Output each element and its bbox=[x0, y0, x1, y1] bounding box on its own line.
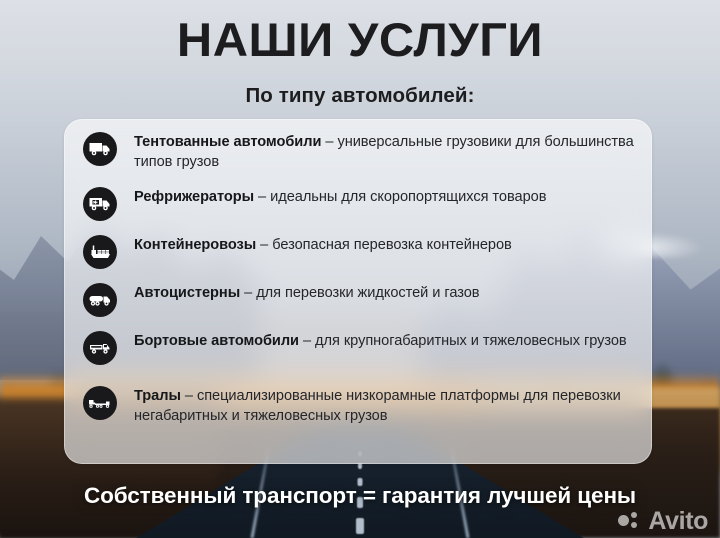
service-desc: идеальны для скоропортящихся товаров bbox=[270, 189, 546, 205]
service-text: Контейнеровозы – безопасная перевозка ко… bbox=[134, 231, 512, 256]
list-item: Тентованные автомобили – универсальные г… bbox=[64, 128, 652, 183]
service-dash: – bbox=[240, 285, 256, 301]
service-desc: безопасная перевозка контейнеров bbox=[272, 237, 512, 253]
refrigerated-truck-icon bbox=[83, 187, 117, 221]
list-item: Автоцистерны – для перевозки жидкостей и… bbox=[64, 279, 652, 327]
service-desc: для перевозки жидкостей и газов bbox=[256, 285, 479, 301]
service-desc: специализированные низкорамные платформы… bbox=[134, 388, 621, 424]
flatbed-truck-icon bbox=[83, 331, 117, 365]
service-text: Рефрижераторы – идеальны для скоропортящ… bbox=[134, 183, 546, 208]
page-title: НАШИ УСЛУГИ bbox=[0, 16, 720, 63]
box-truck-icon bbox=[83, 132, 117, 166]
footer-slogan: Собственный транспорт = гарантия лучшей … bbox=[0, 483, 720, 509]
tanker-truck-icon bbox=[83, 283, 117, 317]
service-text: Бортовые автомобили – для крупногабаритн… bbox=[134, 327, 627, 352]
service-term: Тралы bbox=[134, 388, 181, 404]
service-dash: – bbox=[321, 134, 337, 150]
page-subtitle: По типу автомобилей: bbox=[0, 84, 720, 108]
service-text: Автоцистерны – для перевозки жидкостей и… bbox=[134, 279, 480, 304]
services-panel: Тентованные автомобили – универсальные г… bbox=[64, 119, 652, 464]
service-dash: – bbox=[181, 388, 197, 404]
list-item: Рефрижераторы – идеальны для скоропортящ… bbox=[64, 183, 652, 231]
service-term: Автоцистерны bbox=[134, 285, 240, 301]
list-item: Тралы – специализированные низкорамные п… bbox=[64, 382, 652, 437]
service-term: Тентованные автомобили bbox=[134, 134, 321, 150]
road-dash bbox=[356, 518, 364, 534]
list-item: Контейнеровозы – безопасная перевозка ко… bbox=[64, 231, 652, 279]
services-list: Тентованные автомобили – универсальные г… bbox=[64, 128, 652, 437]
service-dash: – bbox=[254, 189, 270, 205]
service-desc: для крупногабаритных и тяжеловесных груз… bbox=[315, 333, 627, 349]
lowboy-trailer-icon bbox=[83, 386, 117, 420]
service-text: Тентованные автомобили – универсальные г… bbox=[134, 128, 634, 172]
service-term: Рефрижераторы bbox=[134, 189, 254, 205]
avito-dots-icon bbox=[618, 510, 643, 532]
service-text: Тралы – специализированные низкорамные п… bbox=[134, 382, 634, 426]
container-ship-icon bbox=[83, 235, 117, 269]
service-dash: – bbox=[299, 333, 315, 349]
service-dash: – bbox=[256, 237, 272, 253]
avito-wordmark: Avito bbox=[648, 510, 708, 532]
promo-poster: НАШИ УСЛУГИ По типу автомобилей: Тентова… bbox=[0, 0, 720, 538]
service-term: Контейнеровозы bbox=[134, 237, 256, 253]
list-item: Бортовые автомобили – для крупногабаритн… bbox=[64, 327, 652, 382]
service-term: Бортовые автомобили bbox=[134, 333, 299, 349]
avito-watermark: Avito bbox=[618, 510, 708, 532]
